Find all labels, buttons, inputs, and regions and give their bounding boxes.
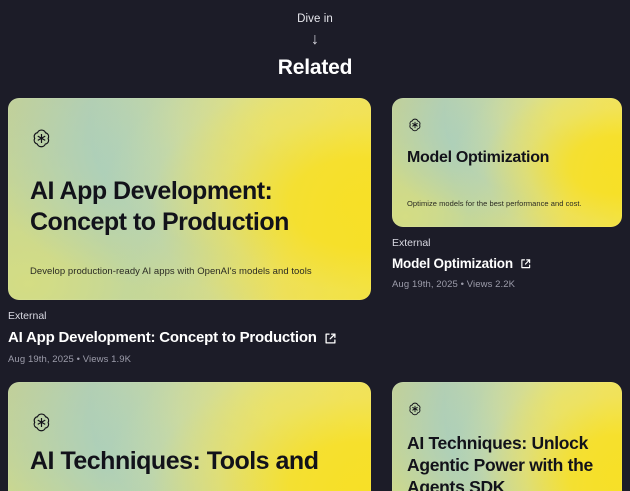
card-meta: External Model Optimization Aug 19th, 20… [392, 227, 622, 291]
related-card[interactable]: AI Techniques: Unlock Agentic Power with… [392, 382, 622, 491]
card-thumbnail[interactable]: AI Techniques: Unlock Agentic Power with… [392, 382, 622, 491]
card-date-views: Aug 19th, 2025 • Views 2.2K [392, 278, 622, 291]
card-kind-label: External [392, 236, 622, 250]
page-title: Related [0, 55, 630, 81]
related-card[interactable]: AI App Development: Concept to Productio… [8, 98, 371, 366]
thumbnail-title: AI Techniques: Unlock Agentic Power with… [407, 432, 606, 491]
card-date-views: Aug 19th, 2025 • Views 1.9K [8, 353, 371, 366]
card-thumbnail[interactable]: AI App Development: Concept to Productio… [8, 98, 371, 300]
openai-logo-icon [407, 117, 423, 133]
card-thumbnail[interactable]: AI Techniques: Tools and [8, 382, 371, 491]
external-link-icon [324, 332, 337, 345]
thumbnail-title: AI App Development: Concept to Productio… [30, 176, 345, 238]
section-header: Dive in ↓ Related [0, 0, 630, 81]
card-thumbnail[interactable]: Model Optimization Optimize models for t… [392, 98, 622, 227]
related-card[interactable]: AI Techniques: Tools and [8, 382, 371, 491]
related-card[interactable]: Model Optimization Optimize models for t… [392, 98, 622, 366]
openai-logo-icon [30, 411, 53, 434]
card-title-text: Model Optimization [392, 255, 513, 273]
thumbnail-title: AI Techniques: Tools and [30, 446, 345, 477]
section-eyebrow: Dive in [0, 11, 630, 27]
card-meta: External AI App Development: Concept to … [8, 300, 371, 366]
card-title[interactable]: AI App Development: Concept to Productio… [8, 328, 371, 348]
thumbnail-subtitle: Optimize models for the best performance… [407, 199, 607, 209]
arrow-down-icon: ↓ [0, 29, 630, 51]
card-title[interactable]: Model Optimization [392, 255, 622, 273]
card-title-text: AI App Development: Concept to Productio… [8, 328, 317, 348]
openai-logo-icon [407, 401, 423, 417]
external-link-icon [520, 258, 532, 270]
card-kind-label: External [8, 309, 371, 323]
openai-logo-icon [30, 127, 53, 150]
thumbnail-subtitle: Develop production-ready AI apps with Op… [30, 265, 349, 278]
related-cards-grid: AI App Development: Concept to Productio… [0, 98, 630, 491]
thumbnail-title: Model Optimization [407, 148, 606, 168]
